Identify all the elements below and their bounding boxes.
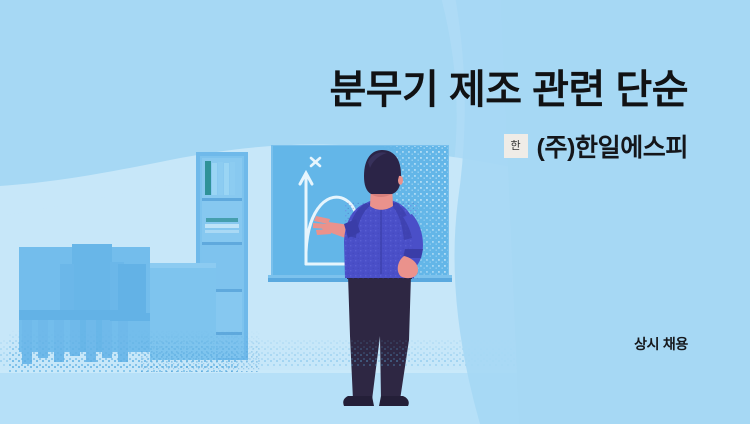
page-title: 분무기 제조 관련 단순	[268, 66, 688, 114]
right-soft-overlay-2	[500, 0, 750, 424]
banner-illustration	[0, 0, 750, 424]
chair-seat	[110, 313, 152, 321]
banner-text-block: 분무기 제조 관련 단순 한 (주)한일에스피	[268, 66, 688, 164]
company-badge-icon: 한	[504, 134, 528, 158]
chair-back	[118, 264, 146, 320]
hiring-type-label: 상시 채용	[634, 334, 688, 354]
company-name[interactable]: (주)한일에스피	[537, 128, 688, 164]
cabinet-panel	[60, 264, 74, 317]
shoe-left	[343, 396, 374, 406]
ear	[398, 176, 403, 185]
cabinet-front-top	[150, 263, 216, 268]
company-row[interactable]: 한 (주)한일에스피	[268, 128, 688, 164]
shoe-right	[379, 396, 409, 406]
job-posting-banner: 분무기 제조 관련 단순 한 (주)한일에스피 상시 채용	[0, 0, 750, 424]
